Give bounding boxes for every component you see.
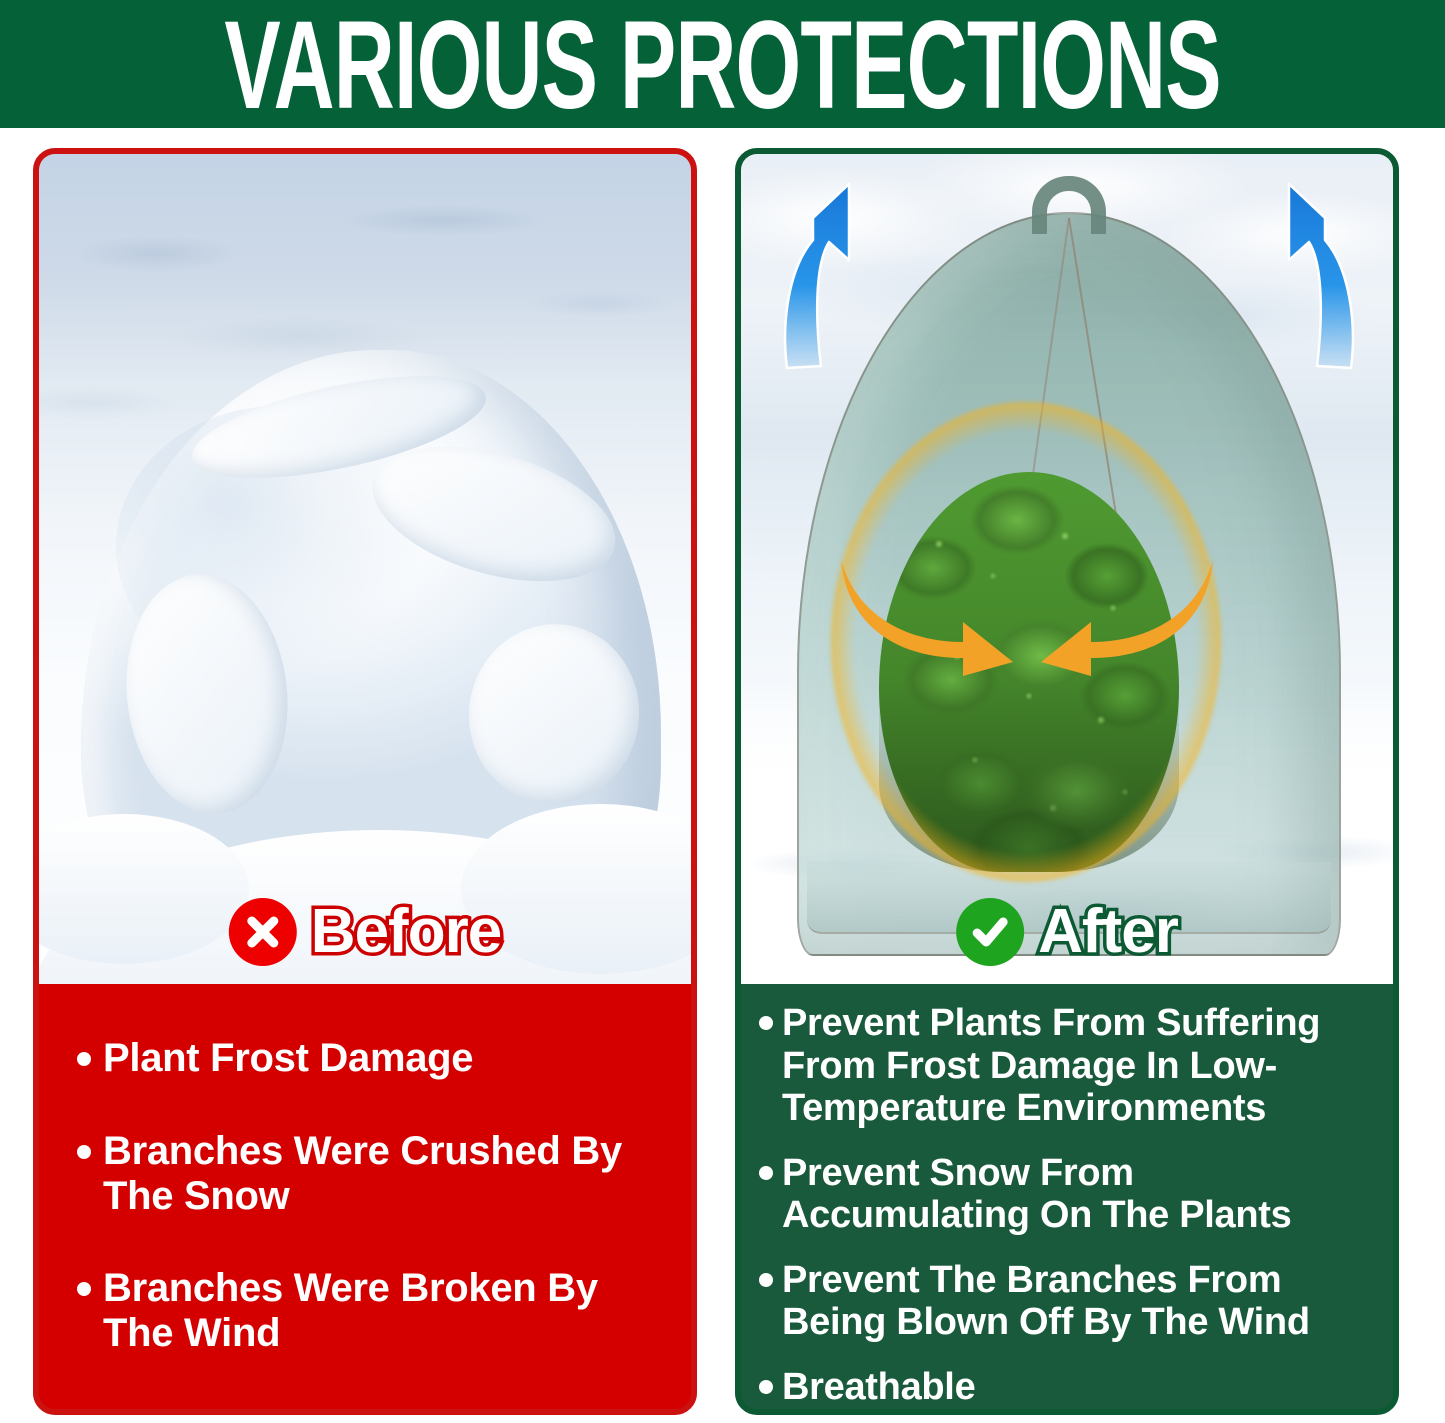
before-badge: Before [229, 898, 501, 966]
bullet-dot-icon [759, 1273, 773, 1287]
bullet-dot-icon [77, 1282, 91, 1296]
bullet-text: Prevent The Branches From Being Blown Of… [782, 1259, 1385, 1344]
list-item: Branches Were Broken By The Wind [77, 1266, 661, 1356]
bullet-text: Branches Were Broken By The Wind [103, 1266, 661, 1356]
snow-covered-bush-photo: Before [39, 154, 691, 984]
airflow-out-arrow-right [1275, 172, 1367, 372]
bullet-text: Branches Were Crushed By The Snow [103, 1129, 661, 1219]
bullet-text: Prevent Plants From Suffering From Frost… [782, 1002, 1385, 1130]
check-icon [956, 898, 1024, 966]
plant-cover-illustration: After [741, 154, 1393, 984]
after-badge-label: After [1038, 901, 1178, 963]
list-item: Breathable [759, 1366, 1385, 1409]
list-item: Branches Were Crushed By The Snow [77, 1129, 661, 1219]
bullet-text: Breathable [782, 1366, 975, 1409]
heat-retained-arrows [837, 546, 1217, 676]
bullet-dot-icon [759, 1166, 773, 1180]
bullet-text: Prevent Snow From Accumulating On The Pl… [782, 1152, 1385, 1237]
before-badge-label: Before [311, 901, 501, 963]
header-band: VARIOUS PROTECTIONS [0, 0, 1445, 128]
list-item: Prevent Plants From Suffering From Frost… [759, 1002, 1385, 1130]
bullet-text: Plant Frost Damage [103, 1036, 473, 1081]
before-bullet-list: Plant Frost Damage Branches Were Crushed… [39, 984, 691, 1415]
page-title: VARIOUS PROTECTIONS [224, 1, 1220, 127]
bullet-dot-icon [759, 1380, 773, 1394]
bullet-dot-icon [759, 1016, 773, 1030]
after-bullet-list: Prevent Plants From Suffering From Frost… [741, 984, 1393, 1415]
after-badge: After [956, 898, 1178, 966]
bullet-dot-icon [77, 1145, 91, 1159]
list-item: Prevent Snow From Accumulating On The Pl… [759, 1152, 1385, 1237]
cross-icon [229, 898, 297, 966]
list-item: Prevent The Branches From Being Blown Of… [759, 1259, 1385, 1344]
bullet-dot-icon [77, 1052, 91, 1066]
after-panel: After Prevent Plants From Suffering From… [735, 148, 1399, 1415]
airflow-out-arrow-left [771, 172, 863, 372]
before-panel: Before Plant Frost Damage Branches Were … [33, 148, 697, 1415]
list-item: Plant Frost Damage [77, 1036, 661, 1081]
